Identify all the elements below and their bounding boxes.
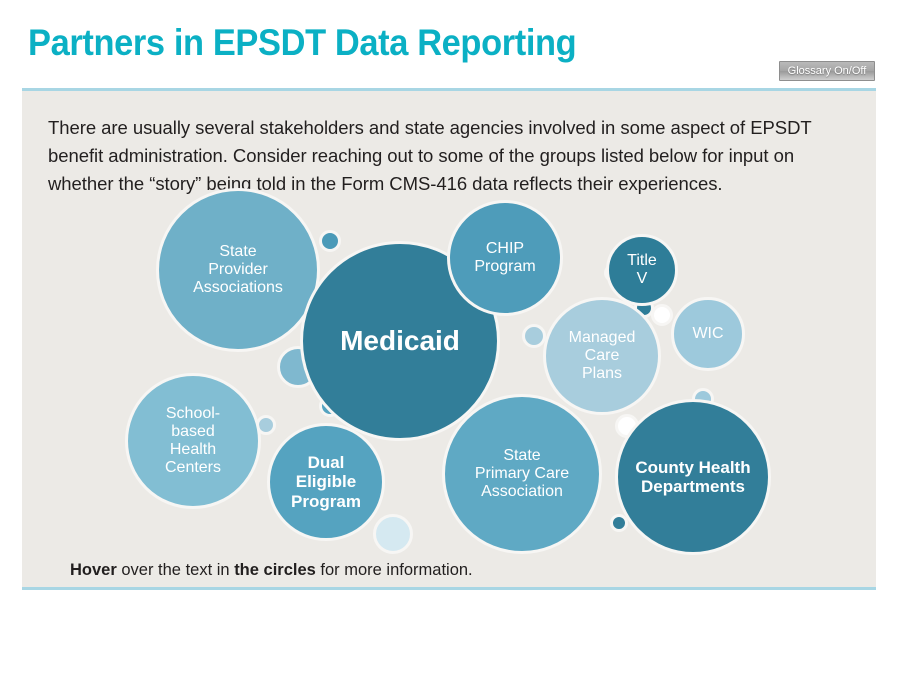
bubble-school-based-health-centers[interactable]: School-basedHealthCenters [125, 373, 261, 509]
bubble-state-provider-associations[interactable]: StateProviderAssociations [156, 188, 320, 352]
partners-bubble-diagram: StateProviderAssociationsMedicaidCHIPPro… [22, 201, 876, 556]
hover-circles-bold: the circles [234, 561, 316, 579]
glossary-toggle-button[interactable]: Glossary On/Off [779, 61, 875, 81]
bubble-managed-care-plans[interactable]: ManagedCarePlans [543, 297, 661, 415]
bubble-county-health-departments[interactable]: County HealthDepartments [615, 399, 771, 555]
page-title: Partners in EPSDT Data Reporting [28, 22, 576, 64]
decorative-circle-deco-1 [319, 230, 341, 252]
footer-bar: Centers for Medicare & Medicaid Services… [0, 596, 898, 674]
hover-text-2: for more information. [316, 561, 473, 579]
bubble-wic[interactable]: WIC [671, 297, 745, 371]
decorative-circle-deco-3 [522, 324, 546, 348]
bubble-label-state-provider-associations: StateProviderAssociations [189, 243, 287, 297]
bubble-chip-program[interactable]: CHIPProgram [447, 200, 563, 316]
bubble-label-chip-program: CHIPProgram [470, 240, 539, 276]
hover-word-bold: Hover [70, 561, 117, 579]
bubble-dual-eligible-program[interactable]: DualEligibleProgram [267, 423, 385, 541]
slide-root: Partners in EPSDT Data Reporting Glossar… [0, 0, 898, 674]
bubble-label-school-based-health-centers: School-basedHealthCenters [161, 405, 225, 477]
content-panel: There are usually several stakeholders a… [22, 88, 876, 590]
bubble-label-dual-eligible-program: DualEligibleProgram [287, 453, 365, 510]
bubble-label-county-health-departments: County HealthDepartments [631, 458, 754, 496]
decorative-circle-deco-5 [651, 304, 673, 326]
decorative-circle-deco-10 [373, 514, 413, 554]
bubble-label-managed-care-plans: ManagedCarePlans [565, 329, 640, 383]
intro-paragraph: There are usually several stakeholders a… [48, 114, 848, 198]
bubble-label-wic: WIC [688, 325, 727, 343]
hover-instruction: Hover over the text in the circles for m… [70, 561, 473, 580]
bubble-title-v[interactable]: TitleV [606, 234, 678, 306]
bubble-label-state-primary-care-association: StatePrimary CareAssociation [471, 447, 573, 501]
bubble-label-title-v: TitleV [623, 252, 661, 288]
hover-text-1: over the text in [117, 561, 234, 579]
bubble-label-medicaid: Medicaid [336, 325, 464, 356]
bubble-state-primary-care-association[interactable]: StatePrimary CareAssociation [442, 394, 602, 554]
